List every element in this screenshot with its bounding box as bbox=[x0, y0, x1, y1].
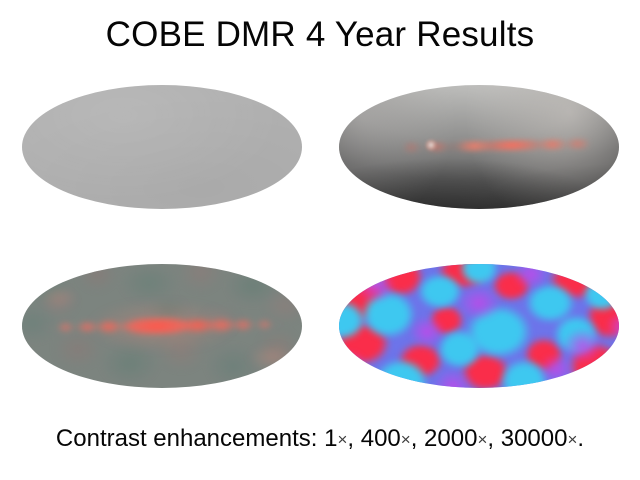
cmb-midtone-spots-layer bbox=[339, 264, 619, 388]
caption-separator-3: , bbox=[487, 425, 500, 452]
galactic-center-knot bbox=[425, 139, 437, 151]
cobe-dmr-slide: { "slide": { "title": "COBE DMR 4 Year R… bbox=[0, 0, 640, 480]
sky-map-panel-galaxy[interactable] bbox=[22, 264, 302, 388]
page-title: COBE DMR 4 Year Results bbox=[0, 14, 640, 56]
multiplier-symbol-1: × bbox=[337, 430, 347, 449]
sky-map-panel-dipole[interactable] bbox=[339, 85, 619, 209]
caption-separator-2: , bbox=[411, 425, 424, 452]
mollweide-ellipse-1 bbox=[22, 85, 302, 209]
monopole-shading-layer bbox=[22, 85, 302, 209]
sky-map-panel-monopole[interactable] bbox=[22, 85, 302, 209]
caption-separator-1: , bbox=[347, 425, 360, 452]
multiplier-symbol-4: × bbox=[567, 430, 577, 449]
caption-value-2: 400 bbox=[361, 425, 401, 452]
caption-value-1: 1 bbox=[324, 425, 337, 452]
mollweide-ellipse-3 bbox=[22, 264, 302, 388]
figure-caption: Contrast enhancements: 1×, 400×, 2000×, … bbox=[0, 424, 640, 455]
mollweide-ellipse-2 bbox=[339, 85, 619, 209]
caption-prefix: Contrast enhancements: bbox=[56, 425, 324, 452]
sky-map-grid bbox=[0, 78, 640, 398]
multiplier-symbol-2: × bbox=[401, 430, 411, 449]
caption-value-3: 2000 bbox=[424, 425, 477, 452]
mollweide-ellipse-4 bbox=[339, 264, 619, 388]
sky-map-panel-cmb[interactable] bbox=[339, 264, 619, 388]
caption-suffix: . bbox=[577, 425, 584, 452]
caption-value-4: 30000 bbox=[501, 425, 568, 452]
multiplier-symbol-3: × bbox=[477, 430, 487, 449]
